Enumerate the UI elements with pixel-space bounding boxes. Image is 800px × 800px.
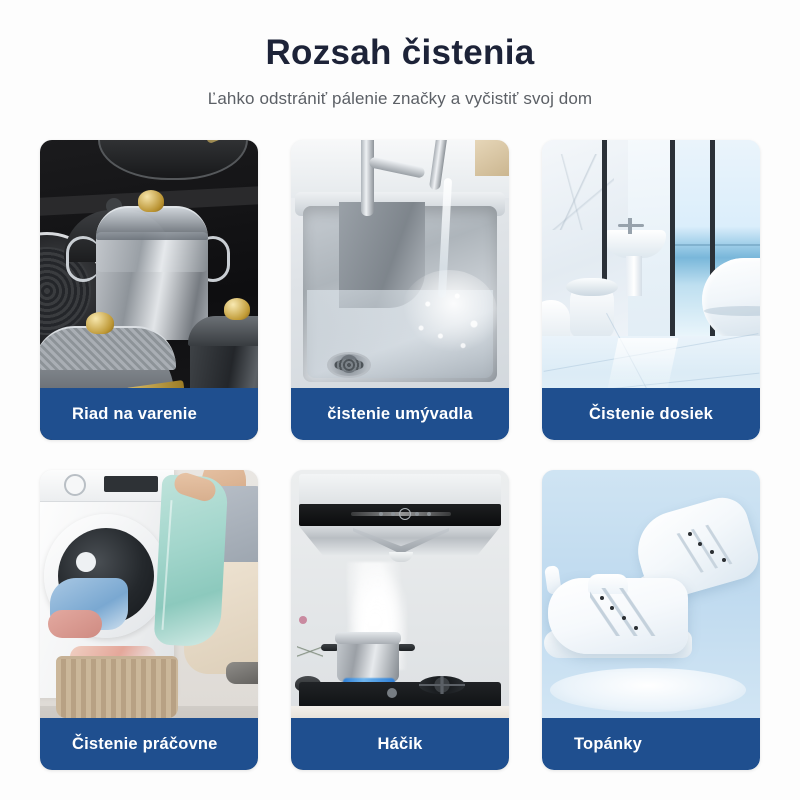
card-label-text: Topánky	[574, 735, 642, 754]
hood-control-dot-shape	[391, 512, 395, 516]
card-label-bar: Topánky	[542, 718, 760, 770]
faucet-neck-shape	[361, 140, 374, 216]
pot-handle-right-shape	[397, 644, 415, 651]
feature-card-laundry[interactable]: Čistenie práčovne	[40, 470, 258, 770]
sink-pedestal-shape	[626, 256, 642, 296]
decor-flower-bud-shape	[299, 616, 307, 624]
pot-handle-left-shape	[66, 236, 100, 282]
wood-board-shape	[475, 140, 509, 176]
hood-control-dot-shape	[415, 512, 419, 516]
lace-eyelet-shape	[722, 558, 726, 562]
card-label-bar: Háčik	[291, 718, 509, 770]
lace-eyelet-shape	[610, 606, 614, 610]
page-title: Rozsah čistenia	[0, 34, 800, 73]
front-pan-knob-shape	[86, 312, 114, 334]
card-label-text: čistenie umývadla	[327, 405, 473, 424]
feature-card-grid: Riad na varenie čistenie umývad	[40, 140, 760, 770]
person-shoe-shape	[226, 662, 258, 684]
wok-pan-shape	[98, 140, 248, 180]
sink-drain-strainer-shape	[327, 352, 371, 378]
horizon-line-shape	[675, 244, 760, 246]
hood-power-ring-shape	[399, 508, 411, 520]
hood-control-dot-shape	[379, 512, 383, 516]
lace-eyelet-shape	[698, 542, 702, 546]
card-label-bar: Čistenie práčovne	[40, 718, 258, 770]
feature-card-bathroom[interactable]: Čistenie dosiek	[542, 140, 760, 440]
lace-eyelet-shape	[622, 616, 626, 620]
card-label-bar: Riad na varenie	[40, 388, 258, 440]
steel-pot-shape	[337, 640, 399, 682]
water-bubbles-shape	[411, 280, 495, 360]
feature-card-range-hood[interactable]: Háčik	[291, 470, 509, 770]
wicker-basket-shape	[56, 656, 178, 718]
right-pot-lid-shape	[188, 316, 258, 346]
burner-grate-shape	[419, 676, 465, 694]
feature-card-sink[interactable]: čistenie umývadla	[291, 140, 509, 440]
toilet-lid-shape	[566, 278, 618, 296]
washer-display-shape	[104, 476, 158, 492]
lace-eyelet-shape	[688, 532, 692, 536]
card-label-text: Čistenie práčovne	[72, 735, 218, 754]
hood-lamp-shape	[389, 552, 413, 562]
card-label-text: Čistenie dosiek	[589, 405, 713, 424]
promo-page: Rozsah čistenia Ľahko odstrániť pálenie …	[0, 0, 800, 800]
mint-towel-shape	[154, 474, 229, 647]
hood-control-dot-shape	[427, 512, 431, 516]
washer-dial-shape	[64, 474, 86, 496]
gold-knob-shape	[138, 190, 164, 212]
lace-eyelet-shape	[634, 626, 638, 630]
feature-card-cookware[interactable]: Riad na varenie	[40, 140, 258, 440]
lace-eyelet-shape	[600, 596, 604, 600]
pink-laundry-shape	[48, 610, 102, 638]
feature-card-shoes[interactable]: Topánky	[542, 470, 760, 770]
window-mullion-shape	[670, 140, 675, 336]
front-sneaker-laces-shape	[590, 588, 656, 636]
card-label-text: Riad na varenie	[72, 405, 197, 424]
drum-highlight-shape	[76, 552, 96, 572]
sink-tap-arm-shape	[618, 224, 644, 227]
wok-handle-shape	[206, 140, 241, 144]
right-pot-knob-shape	[224, 298, 250, 320]
lace-eyelet-shape	[710, 550, 714, 554]
wall-sink-shape	[604, 230, 666, 258]
page-header: Rozsah čistenia Ľahko odstrániť pálenie …	[0, 0, 800, 109]
glass-cooktop-shape	[299, 682, 501, 708]
pot-lid-shape	[335, 632, 401, 644]
decor-branch-shape	[297, 620, 323, 684]
display-podium-shape	[550, 668, 746, 712]
page-subtitle: Ľahko odstrániť pálenie značky a vyčisti…	[0, 89, 800, 109]
card-label-bar: čistenie umývadla	[291, 388, 509, 440]
card-label-bar: Čistenie dosiek	[542, 388, 760, 440]
stove-knob-shape	[387, 688, 397, 698]
card-label-text: Háčik	[377, 735, 422, 754]
